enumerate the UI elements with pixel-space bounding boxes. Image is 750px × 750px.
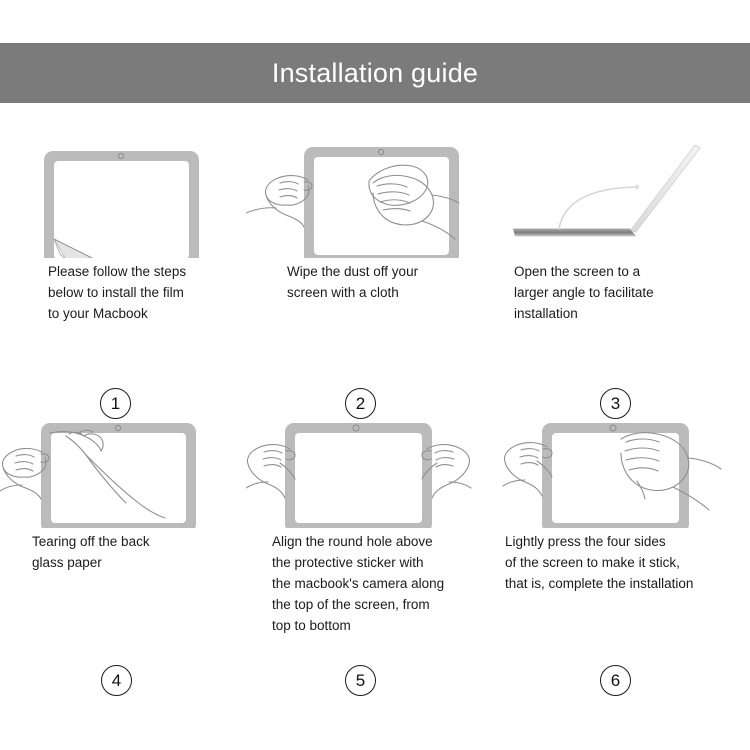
step-4-caption: Tearing off the back glass paper xyxy=(0,531,252,573)
header-band: Installation guide xyxy=(0,43,750,103)
step-2-caption: Wipe the dust off your screen with a clo… xyxy=(246,261,499,303)
step-number-badge: 5 xyxy=(345,665,376,696)
step-card-2: Wipe the dust off your screen with a clo… xyxy=(246,133,496,433)
step-5-illustration xyxy=(246,403,496,528)
caption-line: Tearing off the back xyxy=(32,531,252,552)
caption-line: glass paper xyxy=(32,552,252,573)
step-card-6: Lightly press the four sides of the scre… xyxy=(489,403,739,703)
step-6-illustration xyxy=(489,403,739,528)
caption-line: of the screen to make it stick, xyxy=(505,552,741,573)
step-1-caption: Please follow the steps below to install… xyxy=(0,261,253,324)
caption-line: Please follow the steps xyxy=(48,261,253,282)
tablet-body-icon xyxy=(542,423,689,528)
tablet-body-icon xyxy=(41,423,196,528)
caption-line: the macbook's camera along xyxy=(272,573,498,594)
open-angle-arrow-icon xyxy=(559,185,639,229)
caption-line: Align the round hole above xyxy=(272,531,498,552)
step-card-1: Please follow the steps below to install… xyxy=(0,133,250,433)
caption-line: that is, complete the installation xyxy=(505,573,741,594)
left-hand-icon xyxy=(246,176,312,227)
step-6-caption: Lightly press the four sides of the scre… xyxy=(489,531,741,594)
step-6-badge-wrap: 6 xyxy=(489,665,739,705)
caption-line: installation xyxy=(514,303,742,324)
step-3-caption: Open the screen to a larger angle to fac… xyxy=(489,261,742,324)
steps-row-1: Please follow the steps below to install… xyxy=(0,133,750,433)
caption-line: larger angle to facilitate xyxy=(514,282,742,303)
caption-line: Lightly press the four sides xyxy=(505,531,741,552)
caption-line: Wipe the dust off your xyxy=(287,261,499,282)
step-2-illustration xyxy=(246,133,496,258)
caption-line: top to bottom xyxy=(272,615,498,636)
caption-line: the protective sticker with xyxy=(272,552,498,573)
steps-grid: Please follow the steps below to install… xyxy=(0,103,750,750)
caption-line: below to install the film xyxy=(48,282,253,303)
caption-line: Open the screen to a xyxy=(514,261,742,282)
page-title: Installation guide xyxy=(272,58,478,89)
step-5-caption: Align the round hole above the protectiv… xyxy=(246,531,498,636)
step-card-4: Tearing off the back glass paper 4 xyxy=(0,403,250,703)
step-1-illustration xyxy=(0,133,250,258)
tablet-body-icon xyxy=(44,151,199,258)
step-number-badge: 6 xyxy=(600,665,631,696)
caption-line: to your Macbook xyxy=(48,303,253,324)
step-card-5: Align the round hole above the protectiv… xyxy=(246,403,496,703)
caption-line: the top of the screen, from xyxy=(272,594,498,615)
step-number-badge: 4 xyxy=(101,665,132,696)
steps-row-2: Tearing off the back glass paper 4 xyxy=(0,403,750,703)
step-card-3: Open the screen to a larger angle to fac… xyxy=(489,133,739,433)
step-5-badge-wrap: 5 xyxy=(246,665,496,705)
step-3-illustration xyxy=(489,133,739,258)
step-4-illustration xyxy=(0,403,250,528)
caption-line: screen with a cloth xyxy=(287,282,499,303)
tablet-body-icon xyxy=(285,423,432,528)
step-4-badge-wrap: 4 xyxy=(0,665,250,705)
